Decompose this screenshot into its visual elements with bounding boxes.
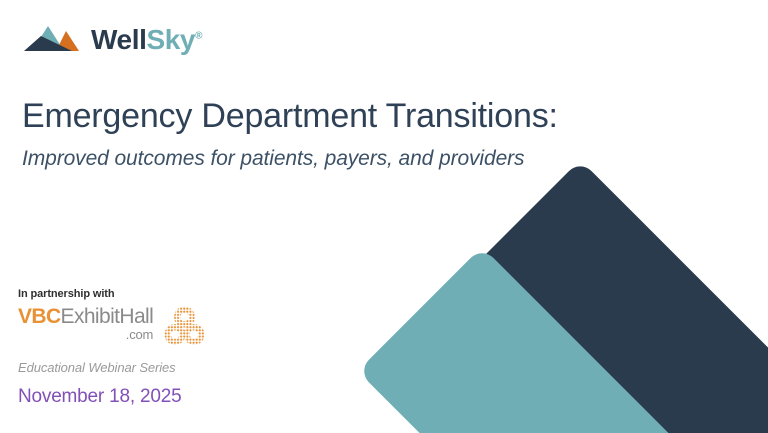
page-subtitle: Improved outcomes for patients, payers, … [22, 146, 558, 171]
partnership-block: In partnership with VBCExhibitHall .com [18, 288, 268, 408]
page-title: Emergency Department Transitions: [22, 96, 558, 136]
decorative-bar-navy [456, 160, 768, 433]
wellsky-logo: WellSky® [22, 18, 202, 61]
title-slide: WellSky® Emergency Department Transition… [0, 0, 768, 433]
vbc-rest: ExhibitHall [61, 305, 154, 328]
webinar-series-label: Educational Webinar Series [18, 360, 268, 375]
partnership-kicker: In partnership with [18, 288, 268, 300]
vbc-tld: .com [18, 327, 153, 342]
vbc-wordmark: VBCExhibitHall .com [18, 304, 153, 342]
wordmark-sky: Sky [146, 24, 195, 55]
wellsky-mountain-icon [22, 18, 82, 61]
webinar-date: November 18, 2025 [18, 386, 268, 408]
headline-block: Emergency Department Transitions: Improv… [22, 96, 558, 171]
wellsky-wordmark: WellSky® [91, 26, 202, 54]
vbc-wordmark-line: VBCExhibitHall [18, 305, 153, 328]
decorative-bar-orange [549, 259, 768, 433]
trademark-symbol: ® [195, 30, 202, 41]
vbc-trefoil-dots-icon [161, 304, 207, 355]
vbc-logo: VBCExhibitHall .com [18, 304, 268, 355]
decorative-bar-teal [358, 247, 768, 433]
vbc-abbr: VBC [18, 305, 61, 328]
wordmark-well: Well [91, 24, 146, 55]
